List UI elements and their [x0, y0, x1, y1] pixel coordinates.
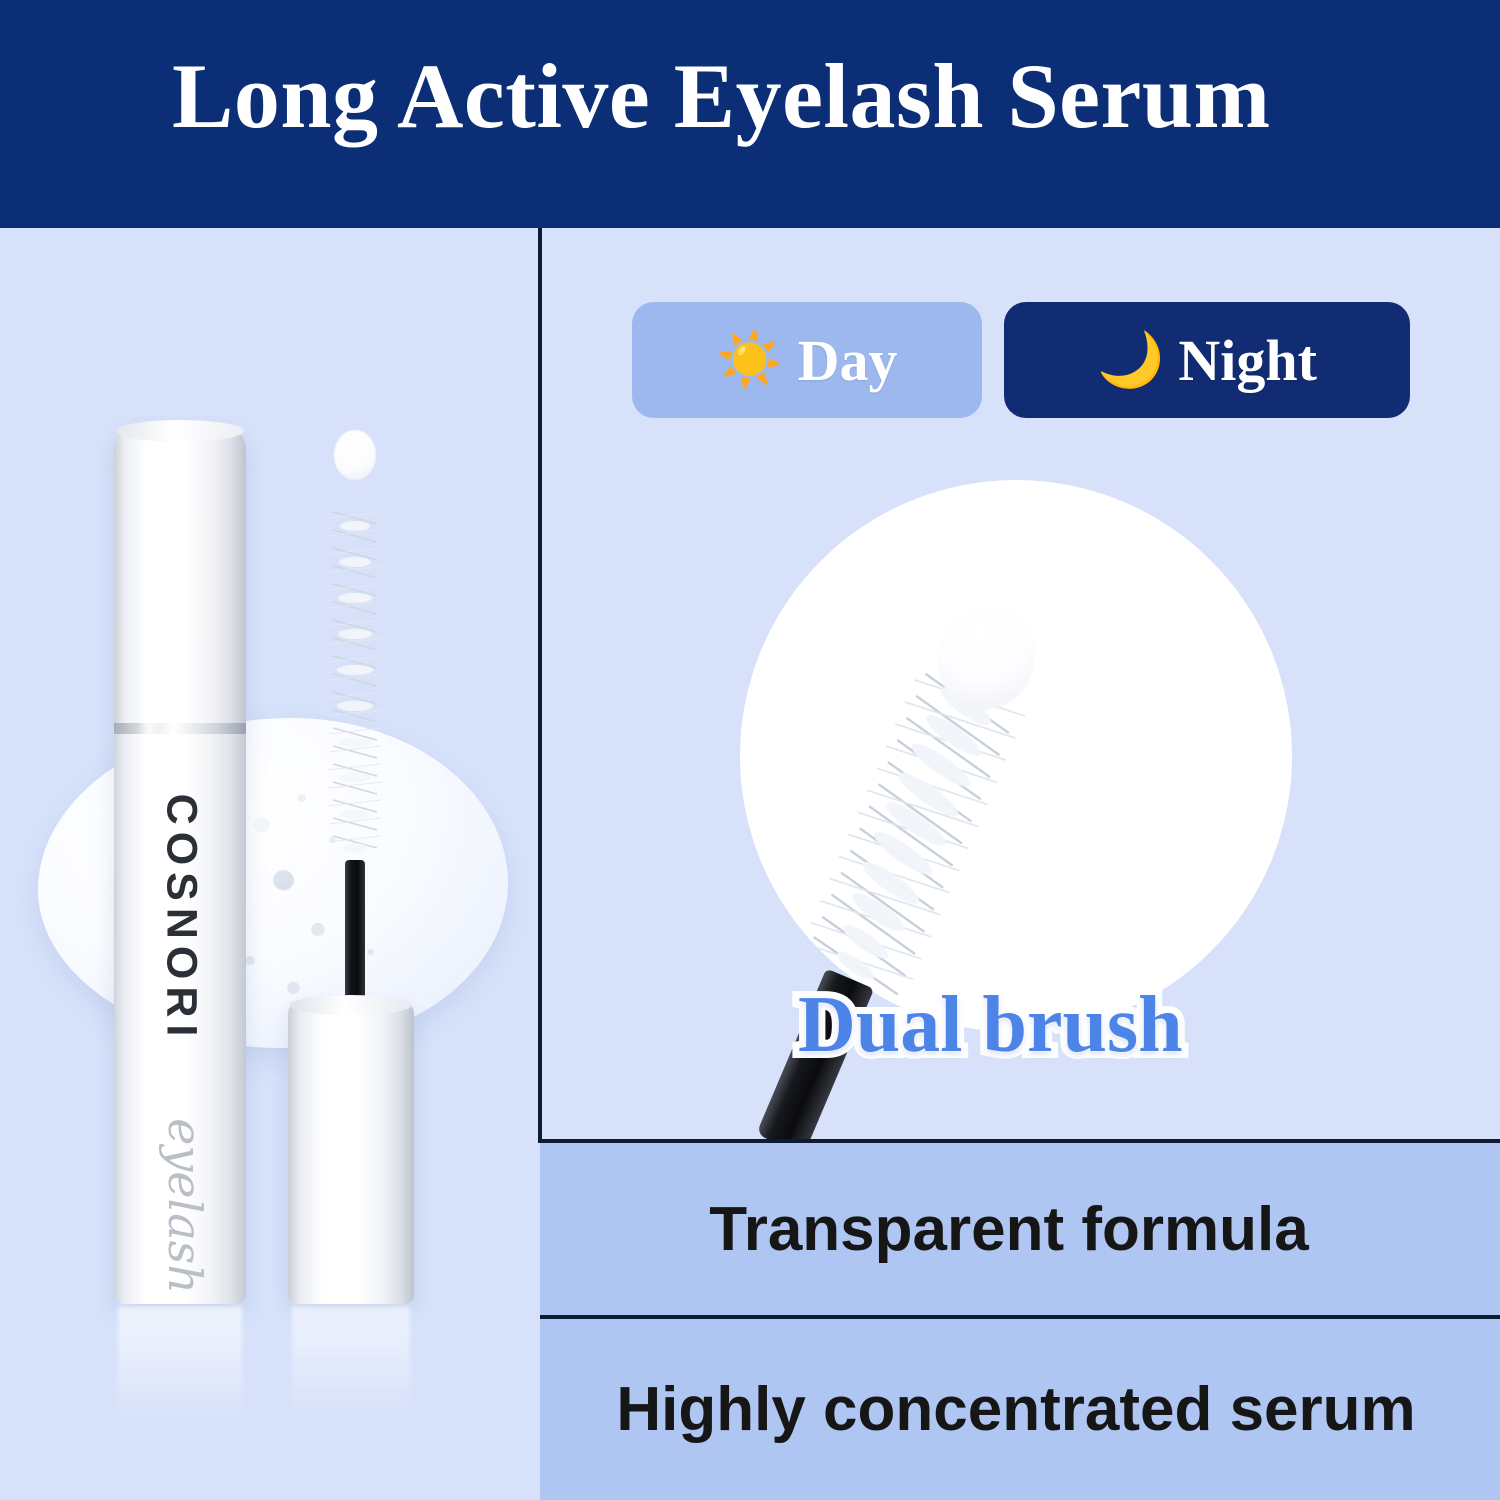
product-marketing-poster: Long Active Eyelash Serum — [0, 0, 1500, 1500]
usage-badges: ☀️ Day 🌙 Night — [632, 302, 1410, 418]
left-product-panel: COSNORI eyelash — [0, 228, 538, 1500]
bottle-brand-label: COSNORI — [157, 734, 206, 1104]
page-title: Long Active Eyelash Serum — [172, 48, 1271, 145]
dual-brush-callout: Dual brush — [798, 980, 1183, 1071]
detached-cap — [288, 1000, 414, 1304]
feature-row-concentrated-serum: Highly concentrated serum — [540, 1315, 1500, 1500]
gel-bubble — [297, 794, 306, 803]
badge-night-label: Night — [1178, 327, 1317, 394]
crescent-moon-icon: 🌙 — [1097, 333, 1164, 387]
wand-bristles — [327, 468, 383, 866]
gel-bubble — [254, 817, 270, 833]
feature-label: Transparent formula — [540, 1194, 1500, 1265]
bottle-seam-band — [114, 723, 246, 734]
gel-bubble — [273, 870, 294, 891]
gel-bubble — [245, 956, 255, 966]
detached-cap-reflection — [292, 1306, 410, 1418]
detached-cap-top — [290, 995, 412, 1015]
badge-night[interactable]: 🌙 Night — [1004, 302, 1410, 418]
right-feature-panel: ☀️ Day 🌙 Night — [542, 228, 1500, 1143]
wand-fluffy-tip — [334, 430, 376, 480]
badge-day[interactable]: ☀️ Day — [632, 302, 982, 418]
bottle-script-label: eyelash — [158, 1091, 212, 1321]
bottle-cap — [114, 424, 246, 724]
badge-day-label: Day — [798, 327, 898, 394]
gel-swatch — [38, 718, 508, 1048]
serum-bottle: COSNORI eyelash — [114, 424, 246, 1304]
bottle-cap-top — [116, 420, 244, 442]
feature-label: Highly concentrated serum — [540, 1374, 1500, 1445]
header-banner: Long Active Eyelash Serum — [0, 0, 1500, 228]
gel-bubble — [287, 982, 300, 995]
sun-icon: ☀️ — [716, 333, 783, 387]
bottle-reflection — [118, 1306, 242, 1426]
feature-row-transparent-formula: Transparent formula — [540, 1139, 1500, 1315]
